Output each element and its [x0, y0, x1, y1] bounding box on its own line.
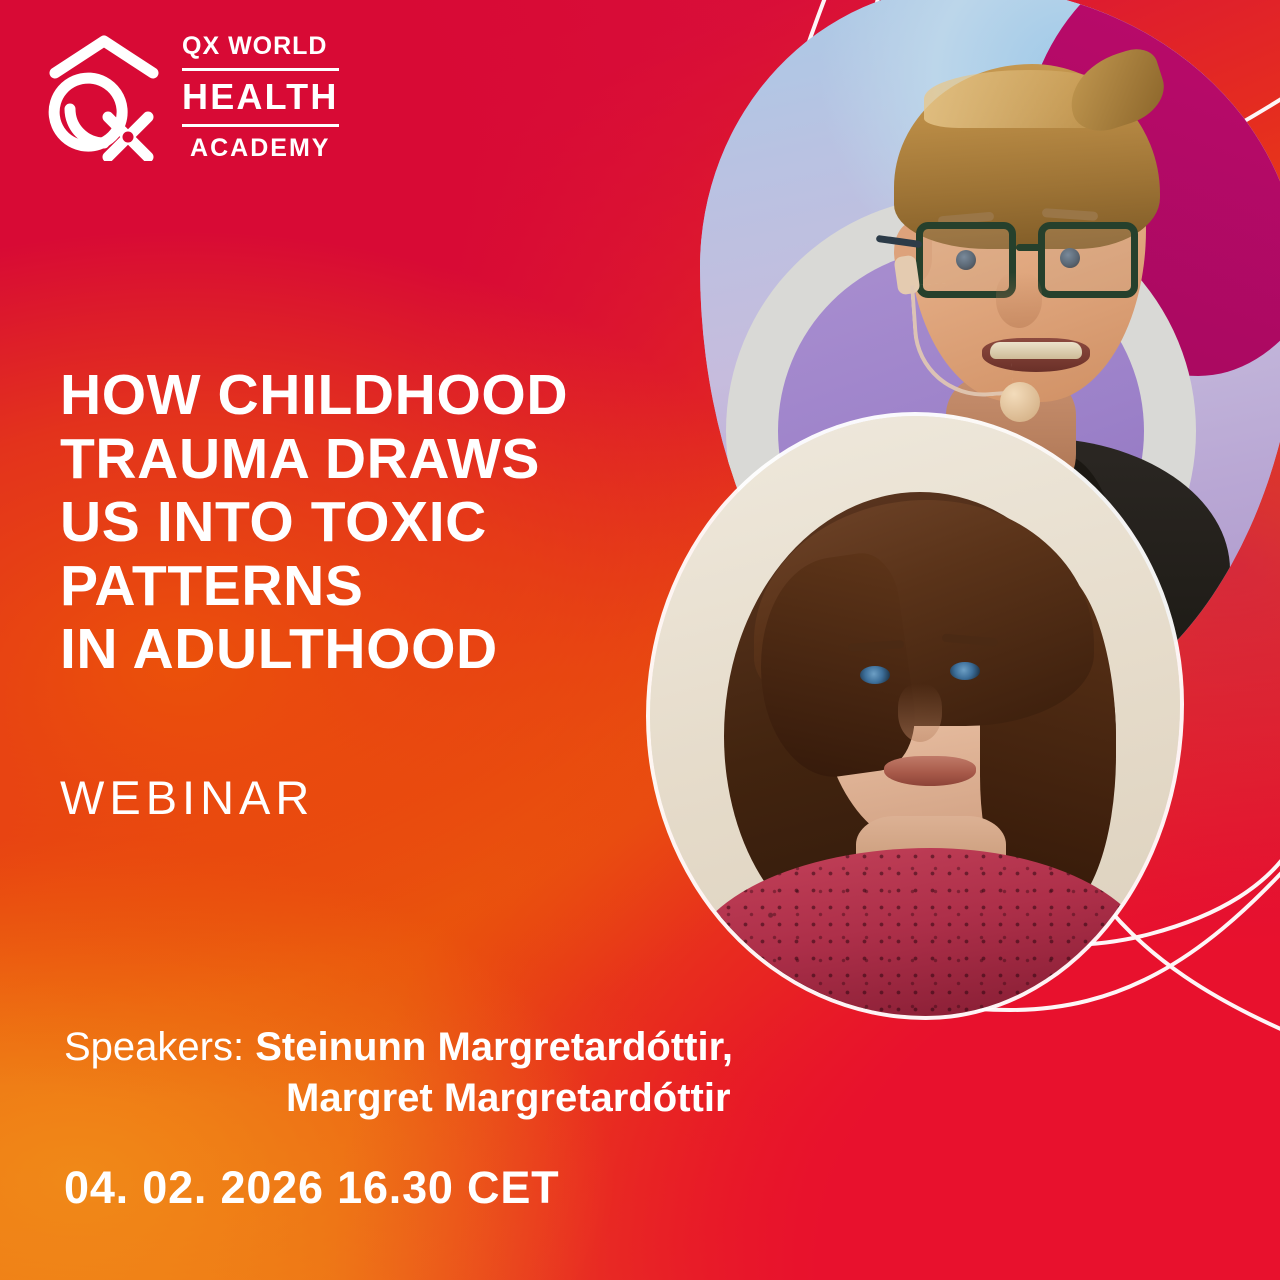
glasses-bridge	[1016, 244, 1042, 251]
webinar-promo-poster: QX WORLD HEALTH ACADEMY HOW CHILDHOOD TR…	[0, 0, 1280, 1280]
qx-world-health-academy-logo[interactable]: QX WORLD HEALTH ACADEMY	[48, 34, 339, 161]
speakers-line-1: Speakers: Steinunn Margretardóttir,	[64, 1022, 884, 1073]
logo-wordmark: QX WORLD HEALTH ACADEMY	[182, 34, 339, 161]
speakers-block: Speakers: Steinunn Margretardóttir, Marg…	[64, 1022, 884, 1124]
logo-line-qx-world: QX WORLD	[182, 34, 339, 68]
logo-line-health: HEALTH	[182, 71, 339, 124]
glasses-lens-right	[1038, 222, 1138, 298]
logo-line-academy: ACADEMY	[182, 127, 339, 161]
headline-line-2: TRAUMA DRAWS	[60, 428, 680, 492]
headline-line-1: HOW CHILDHOOD	[60, 364, 680, 428]
headline-line-5: IN ADULTHOOD	[60, 618, 680, 682]
speaker-photos	[640, 0, 1280, 1056]
qx-house-logo-icon	[48, 35, 160, 161]
headline-line-3: US INTO TOXIC	[60, 491, 680, 555]
speaker-name-1: Steinunn Margretardóttir,	[255, 1025, 733, 1069]
speaker2-mouth	[884, 756, 976, 786]
speaker2-eye-right	[950, 662, 980, 680]
speaker2-nose	[898, 684, 942, 742]
event-datetime: 04. 02. 2026 16.30 CET	[64, 1162, 559, 1214]
page-title: HOW CHILDHOOD TRAUMA DRAWS US INTO TOXIC…	[60, 364, 680, 682]
speakers-label: Speakers:	[64, 1025, 244, 1069]
headline-line-4: PATTERNS	[60, 555, 680, 619]
event-type-label: WEBINAR	[60, 770, 314, 825]
speaker-name-2: Margret Margretardóttir	[64, 1073, 884, 1124]
speaker-photo-margret	[650, 416, 1180, 1016]
speaker2-eye-left	[860, 666, 890, 684]
